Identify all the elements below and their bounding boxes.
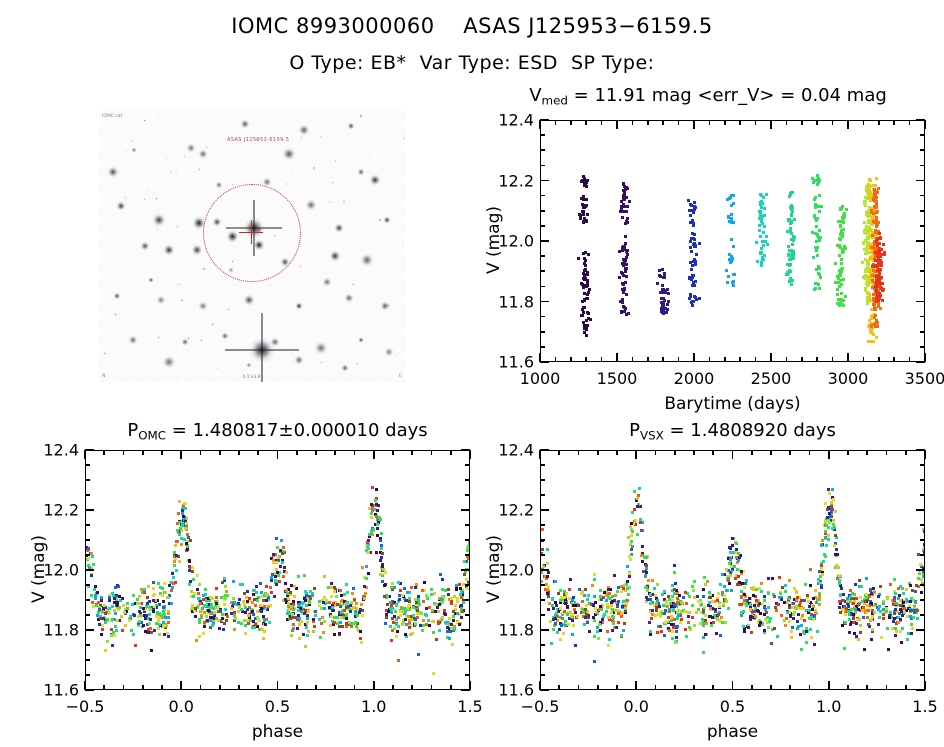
background-star xyxy=(227,308,230,311)
axis-tick xyxy=(924,450,926,459)
axis-tick xyxy=(555,120,557,125)
axis-tick xyxy=(540,659,545,661)
axis-tick xyxy=(85,569,94,571)
axis-tick xyxy=(103,450,105,455)
axis-tick xyxy=(739,120,741,125)
axis-tick xyxy=(578,450,580,455)
field-star xyxy=(107,166,119,178)
x-tick-label: 2500 xyxy=(751,369,792,388)
axis-tick xyxy=(540,509,549,511)
lightcurve-xaxis-label: Barytime (days) xyxy=(540,394,925,414)
axis-tick xyxy=(828,681,830,690)
axis-tick xyxy=(770,353,772,362)
axis-tick xyxy=(555,357,557,362)
axis-tick xyxy=(905,685,907,690)
background-star xyxy=(334,160,337,163)
axis-tick xyxy=(200,685,202,690)
axis-tick xyxy=(916,689,925,691)
background-star xyxy=(176,225,178,227)
axis-tick xyxy=(540,674,545,676)
axis-tick xyxy=(540,569,549,571)
axis-tick xyxy=(85,599,90,601)
axis-tick xyxy=(85,629,94,631)
axis-tick xyxy=(920,255,925,257)
lightcurve-plot-area[interactable] xyxy=(540,120,925,362)
axis-tick xyxy=(142,685,144,690)
axis-tick xyxy=(540,301,549,303)
axis-tick xyxy=(674,450,676,455)
axis-tick xyxy=(85,584,90,586)
axis-tick xyxy=(540,225,545,227)
axis-tick xyxy=(893,357,895,362)
field-star xyxy=(305,199,316,210)
axis-tick xyxy=(540,449,549,451)
axis-tick xyxy=(709,120,711,125)
axis-tick xyxy=(712,685,714,690)
diffraction-spike xyxy=(261,313,263,382)
axis-tick xyxy=(540,494,545,496)
axis-tick xyxy=(916,119,925,121)
axis-tick xyxy=(461,509,470,511)
axis-tick xyxy=(920,286,925,288)
axis-tick xyxy=(392,450,394,455)
field-star xyxy=(369,174,380,185)
axis-tick xyxy=(540,479,545,481)
background-star xyxy=(180,299,183,302)
axis-tick xyxy=(786,120,788,125)
background-star xyxy=(157,336,159,338)
axis-tick xyxy=(916,629,925,631)
axis-tick xyxy=(540,554,545,556)
axis-tick xyxy=(920,524,925,526)
axis-tick xyxy=(461,569,470,571)
background-star xyxy=(395,354,397,356)
axis-tick xyxy=(465,584,470,586)
axis-tick xyxy=(540,361,549,363)
axis-tick xyxy=(540,240,549,242)
field-star xyxy=(384,347,393,356)
axis-tick xyxy=(161,685,163,690)
field-star xyxy=(198,149,208,159)
axis-tick xyxy=(461,689,470,691)
axis-tick xyxy=(847,450,849,455)
field-star xyxy=(156,295,165,304)
axis-tick xyxy=(85,449,94,451)
axis-tick xyxy=(219,450,221,455)
axis-tick xyxy=(461,449,470,451)
axis-tick xyxy=(809,450,811,455)
axis-tick xyxy=(85,689,94,691)
axis-tick xyxy=(920,464,925,466)
axis-tick xyxy=(616,120,618,129)
x-tick-label: 0.0 xyxy=(624,697,649,716)
axis-tick xyxy=(893,120,895,125)
axis-tick xyxy=(678,120,680,125)
background-star xyxy=(178,283,180,285)
axis-tick xyxy=(693,685,695,690)
axis-tick xyxy=(373,450,375,459)
background-star xyxy=(101,242,103,244)
axis-tick xyxy=(916,509,925,511)
axis-tick xyxy=(296,450,298,455)
phase-vsx-title: PVSX = 1.4808920 days xyxy=(540,420,925,442)
axis-tick xyxy=(755,120,757,125)
axis-tick xyxy=(920,479,925,481)
axis-tick xyxy=(878,120,880,125)
axis-tick xyxy=(84,450,86,459)
axis-tick xyxy=(465,539,470,541)
axis-tick xyxy=(465,659,470,661)
axis-tick xyxy=(597,685,599,690)
axis-tick xyxy=(180,450,182,459)
phase-vsx-plot-area[interactable] xyxy=(540,450,925,690)
background-star xyxy=(299,265,302,268)
axis-tick xyxy=(540,180,549,182)
chart-corner-bottom-right: E xyxy=(399,374,402,379)
period-omc-value: = 1.480817±0.000010 days xyxy=(166,420,428,441)
axis-tick xyxy=(847,120,849,129)
x-tick-label: 3000 xyxy=(828,369,869,388)
axis-tick xyxy=(578,685,580,690)
axis-tick xyxy=(678,357,680,362)
axis-tick xyxy=(465,494,470,496)
axis-tick xyxy=(540,584,545,586)
axis-tick xyxy=(540,331,545,333)
axis-tick xyxy=(847,353,849,362)
axis-tick xyxy=(635,450,637,459)
axis-tick xyxy=(469,450,471,459)
phase-vsx-yaxis-label: V (mag) xyxy=(484,449,504,689)
axis-tick xyxy=(540,270,545,272)
axis-tick xyxy=(85,614,90,616)
axis-tick xyxy=(601,120,603,125)
axis-tick xyxy=(724,357,726,362)
axis-tick xyxy=(909,357,911,362)
axis-tick xyxy=(540,689,549,691)
x-tick-label: 0.0 xyxy=(169,697,194,716)
axis-tick xyxy=(85,644,90,646)
axis-tick xyxy=(886,450,888,455)
axis-tick xyxy=(712,450,714,455)
phase-omc-title: POMC = 1.480817±0.000010 days xyxy=(85,420,470,442)
background-star xyxy=(367,157,369,159)
axis-tick xyxy=(709,357,711,362)
background-star xyxy=(259,180,261,182)
field-star xyxy=(341,364,349,372)
axis-tick xyxy=(540,316,545,318)
axis-tick xyxy=(616,685,618,690)
axis-tick xyxy=(219,685,221,690)
axis-tick xyxy=(450,685,452,690)
period-vsx-subscript: VSX xyxy=(640,428,664,442)
axis-tick xyxy=(392,685,394,690)
axis-tick xyxy=(905,450,907,455)
period-vsx-value: = 1.4808920 days xyxy=(664,420,836,441)
axis-tick xyxy=(354,450,356,455)
phase-omc-plot-area[interactable] xyxy=(85,450,470,690)
axis-tick xyxy=(920,584,925,586)
field-star xyxy=(240,119,249,128)
axis-tick xyxy=(920,149,925,151)
background-star xyxy=(125,150,127,152)
axis-tick xyxy=(674,685,676,690)
axis-tick xyxy=(540,464,545,466)
axis-tick xyxy=(635,681,637,690)
x-tick-label: 1.5 xyxy=(457,697,482,716)
axis-tick xyxy=(920,195,925,197)
field-star xyxy=(163,244,175,256)
axis-tick xyxy=(878,357,880,362)
axis-tick xyxy=(732,450,734,459)
axis-tick xyxy=(238,450,240,455)
background-star xyxy=(352,283,355,286)
phase-vsx-xaxis-label: phase xyxy=(540,722,925,742)
x-tick-label: 1.5 xyxy=(912,697,937,716)
axis-tick xyxy=(916,569,925,571)
axis-tick xyxy=(540,134,545,136)
axis-tick xyxy=(373,681,375,690)
axis-tick xyxy=(863,120,865,125)
axis-tick xyxy=(920,539,925,541)
axis-tick xyxy=(85,554,90,556)
phase-omc-yaxis-label: V (mag) xyxy=(29,449,49,689)
chart-corner-bottom-center: 4.1'x3.8' xyxy=(242,375,261,380)
axis-tick xyxy=(924,120,926,129)
field-star xyxy=(329,250,340,261)
object-type-line: O Type: EB* Var Type: ESD SP Type: xyxy=(0,52,944,74)
x-tick-label: 1500 xyxy=(597,369,638,388)
axis-tick xyxy=(161,450,163,455)
axis-tick xyxy=(465,614,470,616)
x-tick-label: −0.5 xyxy=(521,697,560,716)
background-star xyxy=(342,200,345,203)
background-star xyxy=(198,168,200,170)
axis-tick xyxy=(909,120,911,125)
axis-tick xyxy=(693,120,695,129)
axis-tick xyxy=(123,685,125,690)
axis-tick xyxy=(540,165,545,167)
axis-tick xyxy=(916,301,925,303)
photometry-values: = 11.91 mag <err_V> = 0.04 mag xyxy=(568,85,887,106)
axis-tick xyxy=(257,450,259,455)
axis-tick xyxy=(539,120,541,129)
field-star xyxy=(360,253,374,267)
axis-tick xyxy=(411,685,413,690)
axis-tick xyxy=(828,450,830,459)
axis-tick xyxy=(540,119,549,121)
axis-tick xyxy=(85,494,90,496)
axis-tick xyxy=(103,685,105,690)
background-star xyxy=(378,218,382,222)
axis-tick xyxy=(85,524,90,526)
axis-tick xyxy=(465,599,470,601)
axis-tick xyxy=(238,685,240,690)
axis-tick xyxy=(647,357,649,362)
axis-tick xyxy=(616,450,618,455)
axis-tick xyxy=(693,353,695,362)
background-star xyxy=(231,183,234,186)
axis-tick xyxy=(315,685,317,690)
field-star xyxy=(162,355,175,368)
x-tick-label: 1.0 xyxy=(361,697,386,716)
axis-tick xyxy=(85,464,90,466)
axis-tick xyxy=(558,450,560,455)
axis-tick xyxy=(85,659,90,661)
axis-tick xyxy=(809,685,811,690)
x-tick-label: 1000 xyxy=(520,369,561,388)
background-star xyxy=(183,155,186,158)
axis-tick xyxy=(411,450,413,455)
axis-tick xyxy=(916,449,925,451)
axis-tick xyxy=(334,685,336,690)
axis-tick xyxy=(85,539,90,541)
background-star xyxy=(170,171,172,173)
axis-tick xyxy=(789,450,791,455)
field-star xyxy=(140,241,150,251)
field-star xyxy=(191,244,202,255)
field-star xyxy=(215,181,223,189)
period-omc-symbol: P xyxy=(127,420,138,441)
axis-tick xyxy=(431,685,433,690)
period-vsx-symbol: P xyxy=(629,420,640,441)
axis-tick xyxy=(789,685,791,690)
axis-tick xyxy=(570,120,572,125)
background-star xyxy=(103,352,106,355)
axis-tick xyxy=(540,539,545,541)
axis-tick xyxy=(920,270,925,272)
axis-tick xyxy=(180,681,182,690)
axis-tick xyxy=(257,685,259,690)
photometry-summary: Vmed = 11.91 mag <err_V> = 0.04 mag xyxy=(472,85,944,107)
axis-tick xyxy=(916,180,925,182)
axis-tick xyxy=(732,681,734,690)
vmed-symbol: V xyxy=(529,85,541,106)
background-star xyxy=(205,146,208,149)
axis-tick xyxy=(847,685,849,690)
background-star xyxy=(131,140,133,142)
axis-tick xyxy=(916,361,925,363)
axis-tick xyxy=(334,450,336,455)
axis-tick xyxy=(916,240,925,242)
period-omc-subscript: OMC xyxy=(138,428,166,442)
x-tick-label: 3500 xyxy=(905,369,944,388)
axis-tick xyxy=(832,120,834,125)
axis-tick xyxy=(816,120,818,125)
chart-corner-top-left: IOMC cat xyxy=(102,114,122,119)
axis-tick xyxy=(277,450,279,459)
background-star xyxy=(359,114,362,117)
axis-tick xyxy=(142,450,144,455)
axis-tick xyxy=(296,685,298,690)
axis-tick xyxy=(540,210,545,212)
axis-tick xyxy=(816,357,818,362)
axis-tick xyxy=(540,286,545,288)
axis-tick xyxy=(540,644,545,646)
axis-tick xyxy=(540,629,549,631)
background-star xyxy=(312,166,315,169)
axis-tick xyxy=(540,346,545,348)
x-tick-label: 1.0 xyxy=(816,697,841,716)
axis-tick xyxy=(597,450,599,455)
axis-tick xyxy=(465,554,470,556)
axis-tick xyxy=(461,629,470,631)
axis-tick xyxy=(920,210,925,212)
axis-tick xyxy=(85,479,90,481)
vmed-subscript: med xyxy=(542,93,568,107)
axis-tick xyxy=(751,685,753,690)
axis-tick xyxy=(920,554,925,556)
axis-tick xyxy=(786,357,788,362)
axis-tick xyxy=(751,450,753,455)
axis-tick xyxy=(866,685,868,690)
field-star xyxy=(314,341,328,355)
axis-tick xyxy=(354,685,356,690)
axis-tick xyxy=(616,353,618,362)
axis-tick xyxy=(277,681,279,690)
axis-tick xyxy=(540,599,545,601)
axis-tick xyxy=(465,479,470,481)
axis-tick xyxy=(85,674,90,676)
axis-tick xyxy=(558,685,560,690)
x-tick-label: −0.5 xyxy=(66,697,105,716)
chart-annotation-label: ASAS J125953-6159.5 xyxy=(227,137,289,143)
field-star xyxy=(295,302,302,309)
field-star xyxy=(198,301,208,311)
axis-tick xyxy=(315,450,317,455)
field-star xyxy=(334,223,343,232)
axis-tick xyxy=(662,357,664,362)
axis-tick xyxy=(585,120,587,125)
x-tick-label: 2000 xyxy=(674,369,715,388)
axis-tick xyxy=(465,524,470,526)
axis-tick xyxy=(662,120,664,125)
axis-tick xyxy=(886,685,888,690)
axis-tick xyxy=(539,450,541,459)
axis-tick xyxy=(832,357,834,362)
axis-tick xyxy=(866,450,868,455)
axis-tick xyxy=(724,120,726,125)
axis-tick xyxy=(570,357,572,362)
field-star xyxy=(152,213,165,226)
axis-tick xyxy=(920,316,925,318)
axis-tick xyxy=(465,674,470,676)
x-tick-label: 0.5 xyxy=(265,697,290,716)
axis-tick xyxy=(693,450,695,455)
axis-tick xyxy=(123,450,125,455)
axis-tick xyxy=(770,120,772,129)
field-star xyxy=(322,277,332,287)
target-circle-marker xyxy=(203,184,301,282)
axis-tick xyxy=(920,165,925,167)
background-star xyxy=(157,118,159,120)
axis-tick xyxy=(601,357,603,362)
phase-omc-xaxis-label: phase xyxy=(85,722,470,742)
axis-tick xyxy=(920,674,925,676)
axis-tick xyxy=(540,195,545,197)
axis-tick xyxy=(863,357,865,362)
axis-tick xyxy=(920,644,925,646)
axis-tick xyxy=(647,120,649,125)
axis-tick xyxy=(920,599,925,601)
axis-tick xyxy=(920,331,925,333)
background-star xyxy=(402,244,404,246)
background-star xyxy=(114,313,117,316)
axis-tick xyxy=(540,614,545,616)
axis-tick xyxy=(770,685,772,690)
background-star xyxy=(156,229,158,231)
axis-tick xyxy=(770,450,772,455)
axis-tick xyxy=(85,509,94,511)
